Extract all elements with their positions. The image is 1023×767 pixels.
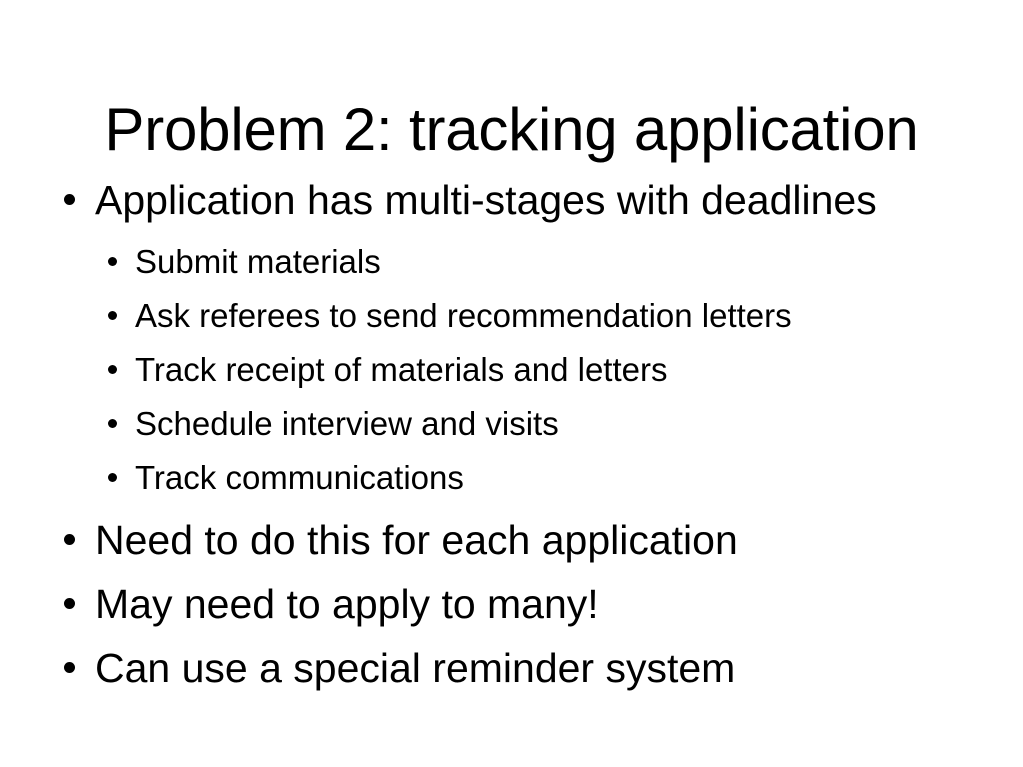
list-item-label: Track communications — [135, 460, 464, 496]
bullet-list: Application has multi-stages with deadli… — [0, 178, 1023, 710]
list-item-label: Need to do this for each application — [95, 518, 738, 562]
filled-circle-icon — [107, 460, 135, 496]
list-item-label: Submit materials — [135, 244, 381, 280]
slide-canvas: Problem 2: tracking application Applicat… — [0, 0, 1023, 767]
list-item: May need to apply to many! — [0, 582, 1023, 646]
filled-circle-icon — [63, 646, 95, 690]
filled-circle-icon — [107, 244, 135, 280]
list-item-label: Track receipt of materials and letters — [135, 352, 667, 388]
sub-bullet-list: Submit materials Ask referees to send re… — [0, 240, 1023, 514]
list-item-label: Ask referees to send recommendation lett… — [135, 298, 792, 334]
filled-circle-icon — [107, 352, 135, 388]
list-item: Ask referees to send recommendation lett… — [0, 298, 1023, 352]
list-item: Can use a special reminder system — [0, 646, 1023, 710]
list-item-label: Can use a special reminder system — [95, 646, 735, 690]
list-item: Submit materials — [0, 240, 1023, 298]
list-item: Track communications — [0, 460, 1023, 514]
list-item-label: May need to apply to many! — [95, 582, 599, 626]
list-item: Application has multi-stages with deadli… — [0, 178, 1023, 240]
list-item: Need to do this for each application — [0, 518, 1023, 582]
filled-circle-icon — [107, 298, 135, 334]
list-item-label: Schedule interview and visits — [135, 406, 559, 442]
filled-circle-icon — [63, 582, 95, 626]
list-item: Track receipt of materials and letters — [0, 352, 1023, 406]
list-item: Schedule interview and visits — [0, 406, 1023, 460]
filled-circle-icon — [63, 178, 95, 222]
filled-circle-icon — [63, 518, 95, 562]
list-item-label: Application has multi-stages with deadli… — [95, 178, 877, 222]
page-title: Problem 2: tracking application — [0, 100, 1023, 160]
filled-circle-icon — [107, 406, 135, 442]
